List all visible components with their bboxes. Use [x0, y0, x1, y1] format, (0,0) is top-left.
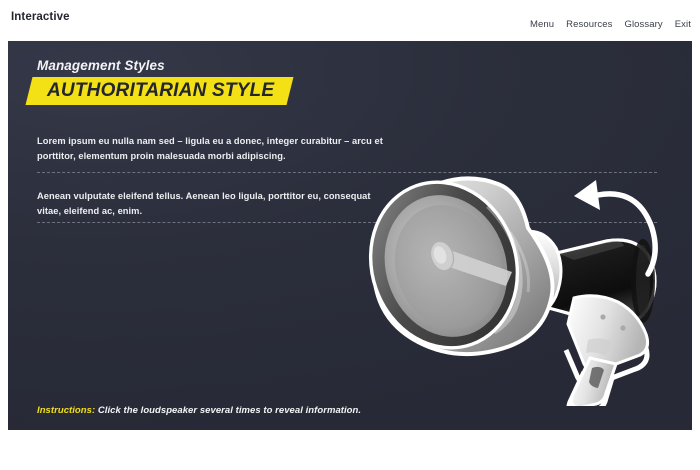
nav-menu[interactable]: Menu [530, 19, 554, 30]
interactive-course-player: Interactive Menu Resources Glossary Exit… [0, 0, 700, 470]
instructions-label: Instructions: [37, 405, 95, 416]
loudspeaker-image[interactable] [360, 136, 690, 406]
slide-stage: Management Styles AUTHORITARIAN STYLE Lo… [8, 41, 692, 430]
player-control-bar: ❮ PREV NEXT ❯ [0, 432, 700, 470]
nav-resources[interactable]: Resources [566, 19, 612, 30]
slide-paragraph-1: Lorem ipsum eu nulla nam sed – ligula eu… [37, 134, 387, 164]
nav-glossary[interactable]: Glossary [624, 19, 662, 30]
instructions-text: Instructions: Click the loudspeaker seve… [37, 405, 361, 416]
instructions-body: Click the loudspeaker several times to r… [98, 405, 361, 416]
slide-title-banner: AUTHORITARIAN STYLE [26, 77, 294, 105]
slide-kicker: Management Styles [37, 58, 165, 73]
page-title: Interactive [11, 11, 70, 23]
slide-title: AUTHORITARIAN STYLE [47, 80, 274, 102]
slide-paragraph-2: Aenean vulputate eleifend tellus. Aenean… [37, 189, 387, 219]
nav-exit[interactable]: Exit [675, 19, 691, 30]
top-bar: Interactive Menu Resources Glossary Exit [0, 0, 700, 41]
top-navigation: Menu Resources Glossary Exit [530, 19, 691, 30]
